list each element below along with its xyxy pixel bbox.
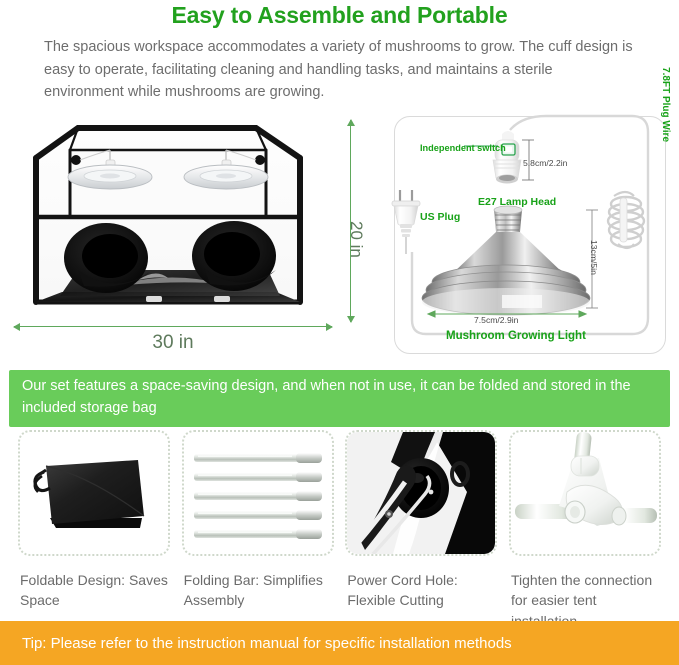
tent-connector-photo	[509, 430, 661, 556]
tent-width-dimension: 30 in	[14, 320, 332, 362]
intro-paragraph: The spacious workspace accommodates a va…	[0, 28, 679, 103]
width-arrow-line	[14, 326, 332, 327]
feature-caption-folding-bar: Folding Bar: Simplifies Assembly	[182, 570, 334, 611]
scissors-cutting-hole-photo	[345, 430, 497, 556]
lamp-width-dimension: 7.5cm/2.9in	[474, 316, 518, 325]
folding-bars-photo	[182, 430, 334, 556]
us-plug-art	[392, 190, 420, 254]
feature-card-tighten-connection: Tighten the connection for easier tent i…	[509, 430, 661, 631]
us-plug-label: US Plug	[420, 212, 460, 223]
e27-lamp-head-label: E27 Lamp Head	[478, 197, 556, 208]
grow-tent-illustration	[18, 120, 318, 320]
cuff-hole-right	[192, 221, 276, 291]
tent-height-dimension: 20 in	[338, 120, 372, 322]
feature-card-folding-bar: Folding Bar: Simplifies Assembly	[182, 430, 334, 631]
page-title: Easy to Assemble and Portable	[0, 0, 679, 28]
plug-wire-label: 7.8FT Plug Wire	[660, 67, 670, 142]
lamp-body-dimension: 13cm/5in	[589, 240, 598, 275]
mushroom-growing-light-label: Mushroom Growing Light	[446, 331, 586, 343]
e27-lamp-head-art	[493, 131, 521, 184]
tent-height-label: 20 in	[346, 221, 366, 258]
diagram-row: 20 in 30 in	[0, 112, 679, 362]
storage-bag-photo	[18, 430, 170, 556]
feature-caption-power-cord-hole: Power Cord Hole: Flexible Cutting	[345, 570, 497, 611]
grow-tent-diagram: 20 in 30 in	[0, 112, 372, 362]
feature-caption-foldable-design: Foldable Design: Saves Space	[18, 570, 170, 611]
feature-card-foldable-design: Foldable Design: Saves Space	[18, 430, 170, 631]
independent-switch-label: Independent switch	[420, 144, 506, 153]
lamp-kit-diagram: Independent switch E27 Lamp Head US Plug…	[382, 112, 672, 360]
feature-cards-row: Foldable Design: Saves Space	[0, 430, 679, 631]
storage-bag-banner: Our set features a space-saving design, …	[9, 370, 670, 427]
tent-width-label: 30 in	[14, 332, 332, 354]
feature-card-power-cord-hole: Power Cord Hole: Flexible Cutting	[345, 430, 497, 631]
lamp-head-dimension: 5.8cm/2.2in	[523, 159, 567, 168]
installation-tip-bar: Tip: Please refer to the instruction man…	[0, 621, 679, 665]
